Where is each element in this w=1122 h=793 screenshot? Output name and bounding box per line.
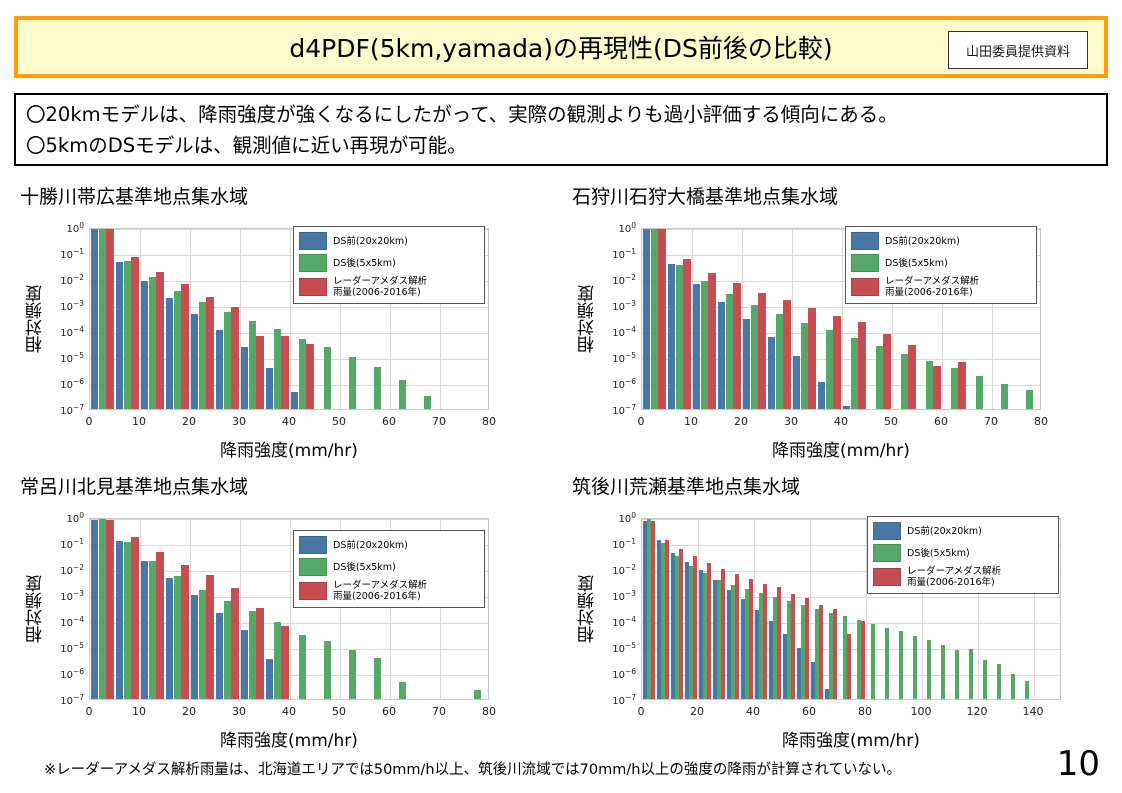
bar-tokachi-s1-b4: [199, 302, 206, 409]
legend-swatch-icon: [851, 278, 879, 296]
y-tick-label: 10−1: [60, 537, 84, 551]
legend-label: DS前(20x20km): [885, 236, 960, 247]
bar-chikugo-s1-b20: [927, 640, 931, 699]
legend-swatch-icon: [873, 522, 901, 540]
bar-tokachi-s1-b1: [124, 261, 131, 409]
y-axis-label-tokoro: 相対頻度: [23, 575, 48, 643]
bar-tokachi-s1-b3: [174, 291, 181, 409]
bar-tokachi-s0-b1: [116, 262, 123, 409]
bar-tokoro-s2-b4: [206, 575, 213, 699]
legend-item-1: DS後(5x5km): [299, 254, 478, 272]
bar-ishikari-s1-b15: [1026, 390, 1033, 409]
y-tick-label: 10−1: [60, 247, 84, 261]
legend-item-0: DS前(20x20km): [851, 232, 1030, 250]
legend-label: レーダーアメダス解析 雨量(2006-2016年): [885, 276, 979, 298]
x-tick-label: 0: [638, 415, 645, 428]
bar-tokachi-s1-b2: [149, 277, 156, 409]
legend-swatch-icon: [299, 536, 327, 554]
x-tick-label: 80: [482, 415, 496, 428]
x-axis-label-chikugo: 降雨強度(mm/hr): [641, 726, 1061, 751]
bar-chikugo-s1-b21: [941, 645, 945, 699]
chart-legend-tokachi: DS前(20x20km)DS後(5x5km)レーダーアメダス解析 雨量(2006…: [293, 226, 485, 304]
x-tick-label: 40: [282, 705, 296, 718]
y-tick-label: 10−5: [60, 351, 84, 365]
y-tick-label: 10−4: [612, 615, 636, 629]
bar-chikugo-s2-b15: [861, 621, 865, 699]
bar-tokachi-s2-b4: [206, 297, 213, 409]
bar-ishikari-s0-b7: [818, 382, 825, 409]
bar-chikugo-s1-b16: [871, 624, 875, 699]
legend-label: DS後(5x5km): [333, 258, 396, 269]
bar-ishikari-s1-b5: [776, 314, 783, 409]
x-tick-label: 70: [984, 415, 998, 428]
bar-tokoro-s1-b9: [324, 641, 331, 699]
bar-chikugo-s1-b25: [997, 664, 1001, 699]
chart-title-tokachi: 十勝川帯広基準地点集水域: [20, 182, 248, 209]
bar-tokachi-s1-b0: [99, 229, 106, 409]
y-tick-label: 10−6: [612, 667, 636, 681]
y-tick-label: 10−6: [60, 377, 84, 391]
bar-tokoro-s0-b1: [116, 541, 123, 699]
bar-tokachi-s2-b1: [131, 257, 138, 409]
y-axis-label-tokachi: 相対頻度: [23, 285, 48, 353]
bar-ishikari-s1-b7: [826, 330, 833, 409]
y-tick-label: 10−2: [612, 273, 636, 287]
bar-chikugo-s1-b26: [1011, 674, 1015, 699]
page-number: 10: [1057, 744, 1100, 784]
bar-chikugo-s2-b6: [735, 574, 739, 699]
x-tick-label: 50: [332, 705, 346, 718]
bar-ishikari-s1-b6: [801, 323, 808, 409]
bar-chikugo-s2-b3: [693, 556, 697, 699]
chart-title-chikugo: 筑後川荒瀬基準地点集水域: [572, 472, 800, 499]
x-tick-label: 100: [911, 705, 932, 718]
x-tick-label: 70: [432, 415, 446, 428]
summary-line-1: 〇20kmモデルは、降雨強度が強くなるにしたがって、実際の観測よりも過小評価する…: [26, 99, 1096, 130]
chart-legend-ishikari: DS前(20x20km)DS後(5x5km)レーダーアメダス解析 雨量(2006…: [845, 226, 1037, 304]
bar-chikugo-s2-b7: [749, 579, 753, 699]
bar-ishikari-s1-b13: [976, 376, 983, 409]
x-tick-label: 20: [690, 705, 704, 718]
legend-label: DS後(5x5km): [907, 548, 970, 559]
bar-chikugo-s1-b27: [1025, 681, 1029, 699]
bar-tokachi-s1-b12: [399, 380, 406, 409]
bar-tokoro-s1-b6: [249, 611, 256, 699]
x-tick-label: 30: [232, 705, 246, 718]
bar-tokoro-s1-b8: [299, 635, 306, 699]
bar-ishikari-s1-b9: [876, 346, 883, 409]
bar-tokoro-s1-b12: [399, 682, 406, 699]
bar-ishikari-s1-b8: [851, 338, 858, 409]
legend-swatch-icon: [299, 278, 327, 296]
bar-tokachi-s2-b2: [156, 272, 163, 409]
y-tick-label: 100: [66, 221, 84, 235]
bar-tokoro-s0-b7: [266, 659, 273, 699]
x-tick-label: 50: [884, 415, 898, 428]
legend-item-2: レーダーアメダス解析 雨量(2006-2016年): [299, 580, 478, 602]
bar-ishikari-s2-b2: [708, 273, 715, 409]
bar-tokoro-s2-b3: [181, 565, 188, 699]
bar-ishikari-s0-b0: [643, 228, 650, 409]
bar-ishikari-s1-b10: [901, 354, 908, 409]
y-tick-label: 10−3: [60, 299, 84, 313]
y-tick-label: 10−3: [612, 299, 636, 313]
x-tick-label: 80: [1034, 415, 1048, 428]
bar-tokoro-s1-b10: [349, 650, 356, 699]
bar-ishikari-s2-b6: [808, 308, 815, 409]
legend-label: DS前(20x20km): [333, 236, 408, 247]
x-tick-label: 10: [132, 705, 146, 718]
x-tick-label: 140: [1023, 705, 1044, 718]
chart-title-tokoro: 常呂川北見基準地点集水域: [20, 472, 248, 499]
bar-chikugo-s2-b13: [833, 609, 837, 699]
legend-label: DS前(20x20km): [333, 540, 408, 551]
y-tick-label: 100: [66, 511, 84, 525]
chart-legend-tokoro: DS前(20x20km)DS後(5x5km)レーダーアメダス解析 雨量(2006…: [293, 530, 485, 608]
x-tick-label: 70: [432, 705, 446, 718]
bar-chikugo-s2-b12: [819, 605, 823, 699]
bar-chikugo-s1-b19: [913, 636, 917, 699]
y-tick-label: 10−7: [60, 403, 84, 417]
bar-tokoro-s0-b3: [166, 578, 173, 699]
bar-ishikari-s1-b1: [676, 265, 683, 409]
x-tick-label: 80: [858, 705, 872, 718]
bar-chikugo-s2-b11: [805, 598, 809, 699]
gridline-horizontal: [90, 519, 488, 520]
x-tick-label: 120: [967, 705, 988, 718]
x-tick-label: 40: [746, 705, 760, 718]
bar-tokoro-s2-b1: [131, 537, 138, 699]
bar-tokoro-s1-b4: [199, 590, 206, 699]
legend-swatch-icon: [851, 254, 879, 272]
bar-ishikari-s1-b2: [701, 281, 708, 409]
bar-chikugo-s1-b17: [885, 628, 889, 699]
footnote: ※レーダーアメダス解析雨量は、北海道エリアでは50mm/h以上、筑後川流域では7…: [44, 758, 901, 779]
legend-swatch-icon: [299, 558, 327, 576]
bar-ishikari-s0-b1: [668, 264, 675, 409]
bar-chikugo-s1-b23: [969, 649, 973, 699]
legend-item-0: DS前(20x20km): [299, 232, 478, 250]
bar-tokachi-s0-b8: [291, 392, 298, 409]
source-badge: 山田委員提供資料: [948, 31, 1088, 69]
bar-tokachi-s1-b7: [274, 329, 281, 409]
bar-tokachi-s0-b3: [166, 298, 173, 409]
legend-label: レーダーアメダス解析 雨量(2006-2016年): [333, 276, 427, 298]
bar-tokachi-s0-b2: [141, 281, 148, 409]
bar-tokachi-s2-b3: [181, 284, 188, 409]
x-tick-label: 60: [382, 705, 396, 718]
bar-chikugo-s1-b18: [899, 631, 903, 699]
bar-tokoro-s1-b3: [174, 576, 181, 699]
bar-chikugo-s2-b5: [721, 569, 725, 699]
header-banner: d4PDF(5km,yamada)の再現性(DS前後の比較) 山田委員提供資料: [14, 16, 1108, 78]
chart-panel-tokoro: 常呂川北見基準地点集水域相対頻度降雨強度(mm/hr)10010−110−210…: [14, 472, 549, 770]
legend-item-2: レーダーアメダス解析 雨量(2006-2016年): [299, 276, 478, 298]
y-tick-label: 10−7: [612, 403, 636, 417]
bar-tokachi-s2-b5: [231, 307, 238, 409]
legend-item-0: DS前(20x20km): [873, 522, 1052, 540]
chart-legend-chikugo: DS前(20x20km)DS後(5x5km)レーダーアメダス解析 雨量(2006…: [867, 516, 1059, 594]
bar-chikugo-s2-b14: [847, 634, 851, 699]
bar-ishikari-s2-b8: [858, 322, 865, 409]
bar-tokoro-s1-b5: [224, 601, 231, 699]
x-tick-label: 20: [734, 415, 748, 428]
bar-chikugo-s2-b9: [777, 587, 781, 699]
bar-ishikari-s1-b3: [726, 294, 733, 409]
legend-label: レーダーアメダス解析 雨量(2006-2016年): [907, 566, 1001, 588]
y-axis-label-ishikari: 相対頻度: [575, 285, 600, 353]
bar-ishikari-s1-b4: [751, 305, 758, 409]
bar-chikugo-s2-b4: [707, 563, 711, 699]
bar-ishikari-s0-b6: [793, 356, 800, 409]
legend-item-1: DS後(5x5km): [299, 558, 478, 576]
bar-ishikari-s2-b1: [683, 259, 690, 409]
bar-tokoro-s2-b2: [156, 552, 163, 699]
bar-tokoro-s0-b6: [241, 630, 248, 699]
legend-swatch-icon: [299, 254, 327, 272]
y-tick-label: 10−1: [612, 537, 636, 551]
bar-tokachi-s1-b6: [249, 321, 256, 409]
y-tick-label: 10−6: [60, 667, 84, 681]
bar-tokoro-s0-b2: [141, 561, 148, 699]
y-tick-label: 10−5: [60, 641, 84, 655]
y-tick-label: 10−2: [60, 273, 84, 287]
bar-chikugo-s1-b22: [955, 650, 959, 699]
bar-ishikari-s2-b10: [908, 345, 915, 409]
gridline-vertical: [290, 519, 291, 699]
y-tick-label: 100: [618, 221, 636, 235]
x-tick-label: 60: [382, 415, 396, 428]
bar-ishikari-s0-b8: [843, 406, 850, 409]
bar-ishikari-s2-b11: [933, 366, 940, 409]
bar-ishikari-s2-b0: [658, 229, 665, 409]
y-tick-label: 10−3: [60, 589, 84, 603]
bar-tokoro-s2-b5: [231, 588, 238, 699]
x-tick-label: 40: [282, 415, 296, 428]
legend-item-1: DS後(5x5km): [873, 544, 1052, 562]
bar-ishikari-s2-b7: [833, 316, 840, 409]
bar-tokachi-s2-b7: [281, 336, 288, 409]
bar-tokachi-s0-b6: [241, 347, 248, 409]
legend-item-0: DS前(20x20km): [299, 536, 478, 554]
bar-tokoro-s1-b2: [149, 561, 156, 699]
bar-tokachi-s2-b6: [256, 336, 263, 409]
bar-tokoro-s0-b4: [191, 595, 198, 699]
y-tick-label: 10−4: [612, 325, 636, 339]
bar-tokoro-s1-b0: [99, 519, 106, 699]
bar-ishikari-s0-b2: [693, 284, 700, 409]
x-axis-label-tokoro: 降雨強度(mm/hr): [89, 726, 489, 751]
x-tick-label: 20: [182, 415, 196, 428]
bar-chikugo-s2-b0: [651, 521, 655, 699]
bar-tokachi-s0-b0: [91, 229, 98, 409]
bar-tokoro-s2-b6: [256, 608, 263, 699]
bar-chikugo-s2-b10: [791, 594, 795, 699]
bar-chikugo-s2-b1: [665, 540, 669, 699]
bar-ishikari-s0-b5: [768, 337, 775, 409]
bar-tokachi-s0-b4: [191, 314, 198, 409]
bar-tokoro-s1-b13: [474, 690, 481, 699]
x-tick-label: 20: [182, 705, 196, 718]
legend-swatch-icon: [873, 544, 901, 562]
x-tick-label: 0: [638, 705, 645, 718]
bar-tokachi-s1-b9: [324, 347, 331, 409]
bar-tokachi-s0-b7: [266, 368, 273, 409]
bar-tokachi-s2-b0: [106, 229, 113, 409]
bar-tokoro-s0-b5: [216, 613, 223, 699]
bar-tokachi-s1-b10: [349, 357, 356, 409]
bar-ishikari-s2-b12: [958, 362, 965, 409]
bar-tokachi-s0-b5: [216, 330, 223, 409]
bar-ishikari-s0-b3: [718, 302, 725, 409]
bar-ishikari-s2-b3: [733, 283, 740, 409]
legend-swatch-icon: [299, 232, 327, 250]
bar-ishikari-s1-b14: [1001, 384, 1008, 409]
x-tick-label: 50: [332, 415, 346, 428]
y-tick-label: 100: [618, 511, 636, 525]
x-tick-label: 30: [232, 415, 246, 428]
bar-ishikari-s1-b12: [951, 368, 958, 409]
x-tick-label: 60: [802, 705, 816, 718]
x-tick-label: 40: [834, 415, 848, 428]
bar-ishikari-s2-b4: [758, 293, 765, 409]
bar-tokachi-s1-b11: [374, 367, 381, 409]
x-tick-label: 60: [934, 415, 948, 428]
bar-chikugo-s2-b8: [763, 584, 767, 699]
bar-chikugo-s2-b2: [679, 549, 683, 699]
legend-item-2: レーダーアメダス解析 雨量(2006-2016年): [851, 276, 1030, 298]
x-tick-label: 0: [86, 705, 93, 718]
bar-tokoro-s1-b7: [274, 622, 281, 699]
y-tick-label: 10−7: [612, 693, 636, 707]
legend-item-1: DS後(5x5km): [851, 254, 1030, 272]
y-tick-label: 10−5: [612, 351, 636, 365]
legend-swatch-icon: [851, 232, 879, 250]
gridline-vertical: [842, 229, 843, 409]
page-title: d4PDF(5km,yamada)の再現性(DS前後の比較): [289, 29, 832, 65]
x-tick-label: 80: [482, 705, 496, 718]
legend-label: レーダーアメダス解析 雨量(2006-2016年): [333, 580, 427, 602]
legend-swatch-icon: [873, 568, 901, 586]
bar-tokachi-s1-b5: [224, 312, 231, 409]
bar-tokachi-s2-b8: [306, 344, 313, 409]
chart-panel-ishikari: 石狩川石狩大橋基準地点集水域相対頻度降雨強度(mm/hr)10010−110−2…: [566, 182, 1101, 480]
x-tick-label: 10: [132, 415, 146, 428]
y-tick-label: 10−4: [60, 615, 84, 629]
y-axis-label-chikugo: 相対頻度: [575, 575, 600, 643]
legend-label: DS後(5x5km): [885, 258, 948, 269]
bar-ishikari-s0-b4: [743, 319, 750, 409]
y-tick-label: 10−2: [60, 563, 84, 577]
y-tick-label: 10−6: [612, 377, 636, 391]
legend-label: DS後(5x5km): [333, 562, 396, 573]
legend-swatch-icon: [299, 582, 327, 600]
x-tick-label: 0: [86, 415, 93, 428]
bar-ishikari-s2-b5: [783, 300, 790, 409]
y-tick-label: 10−1: [612, 247, 636, 261]
bar-tokoro-s1-b11: [374, 658, 381, 699]
chart-panel-chikugo: 筑後川荒瀬基準地点集水域相対頻度降雨強度(mm/hr)10010−110−210…: [566, 472, 1121, 770]
x-axis-label-tokachi: 降雨強度(mm/hr): [89, 436, 489, 461]
y-tick-label: 10−3: [612, 589, 636, 603]
x-axis-label-ishikari: 降雨強度(mm/hr): [641, 436, 1041, 461]
y-tick-label: 10−7: [60, 693, 84, 707]
bar-chikugo-s1-b24: [983, 660, 987, 699]
bar-tokoro-s2-b7: [281, 626, 288, 699]
bar-tokoro-s1-b1: [124, 542, 131, 699]
chart-title-ishikari: 石狩川石狩大橋基準地点集水域: [572, 182, 838, 209]
y-tick-label: 10−4: [60, 325, 84, 339]
bar-tokachi-s1-b13: [424, 396, 431, 409]
gridline-vertical: [290, 229, 291, 409]
bar-tokachi-s1-b8: [299, 339, 306, 409]
y-tick-label: 10−5: [612, 641, 636, 655]
x-tick-label: 10: [684, 415, 698, 428]
bar-ishikari-s1-b0: [651, 228, 658, 409]
x-tick-label: 30: [784, 415, 798, 428]
summary-line-2: 〇5kmのDSモデルは、観測値に近い再現が可能。: [26, 130, 1096, 161]
bar-ishikari-s1-b11: [926, 361, 933, 409]
chart-panel-tokachi: 十勝川帯広基準地点集水域相対頻度降雨強度(mm/hr)10010−110−210…: [14, 182, 549, 480]
legend-label: DS前(20x20km): [907, 526, 982, 537]
bar-ishikari-s2-b9: [883, 334, 890, 409]
bar-tokoro-s2-b0: [106, 520, 113, 699]
y-tick-label: 10−2: [612, 563, 636, 577]
summary-box: 〇20kmモデルは、降雨強度が強くなるにしたがって、実際の観測よりも過小評価する…: [14, 93, 1108, 166]
bar-tokoro-s0-b0: [91, 520, 98, 699]
legend-item-2: レーダーアメダス解析 雨量(2006-2016年): [873, 566, 1052, 588]
